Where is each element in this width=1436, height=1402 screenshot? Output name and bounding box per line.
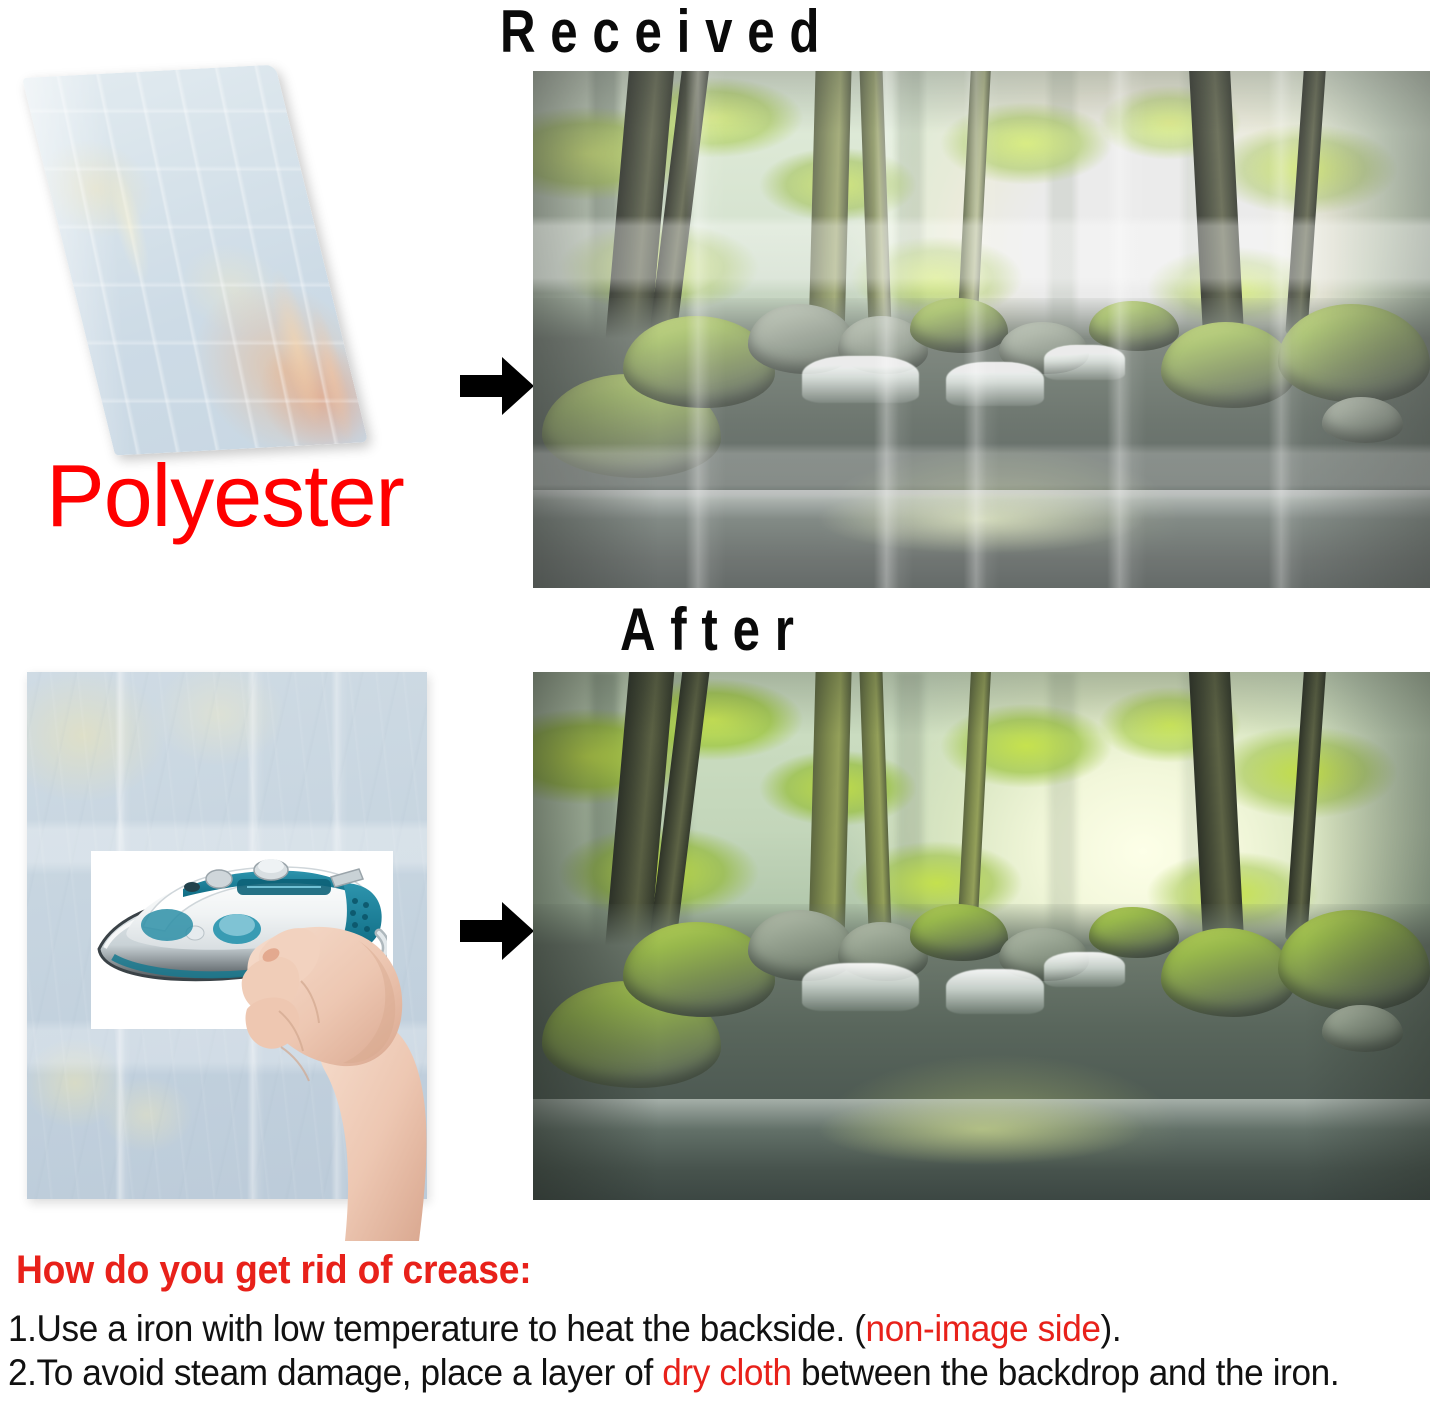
received-heading: Received: [500, 2, 834, 62]
care-step-1-suffix: ).: [1101, 1308, 1122, 1349]
folded-fabric-swatch: [22, 65, 368, 456]
care-instructions-heading: How do you get rid of crease:: [16, 1248, 531, 1293]
after-heading: After: [620, 600, 809, 660]
right-arrow-icon: [458, 900, 536, 962]
after-backdrop-photo: [533, 672, 1430, 1200]
care-step-1: 1.Use a iron with low temperature to hea…: [8, 1308, 1121, 1350]
care-step-1-highlight: non-image side: [866, 1308, 1101, 1349]
care-step-2-prefix: 2.To avoid steam damage, place a layer o…: [8, 1352, 662, 1393]
care-step-2-highlight: dry cloth: [662, 1352, 791, 1393]
care-step-1-prefix: 1.Use a iron with low temperature to hea…: [8, 1308, 866, 1349]
hand-icon: [241, 911, 501, 1256]
care-step-2-suffix: between the backdrop and the iron.: [792, 1352, 1340, 1393]
iron-photo-card: [91, 851, 393, 1029]
right-arrow-icon: [458, 355, 536, 417]
received-backdrop-photo: [533, 71, 1430, 588]
care-step-2: 2.To avoid steam damage, place a layer o…: [8, 1352, 1339, 1394]
polyester-label: Polyester: [46, 452, 404, 540]
